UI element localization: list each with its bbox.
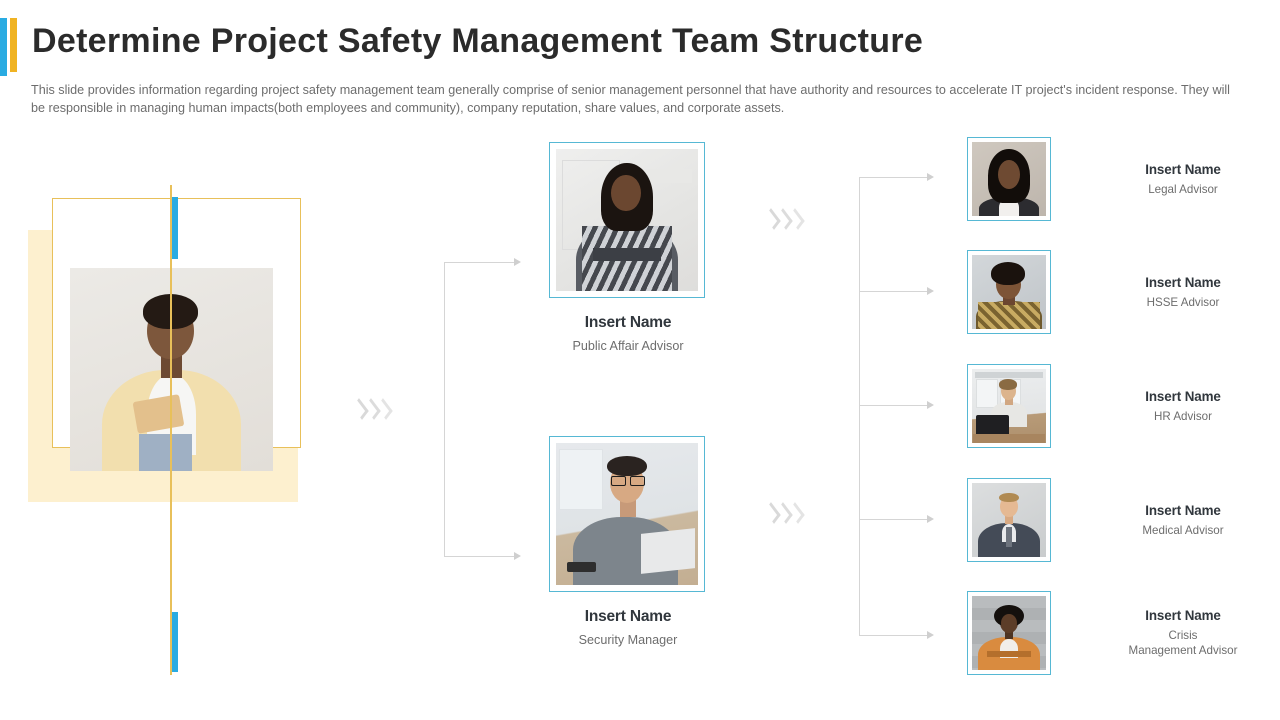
team-row-role: Crisis Management Advisor — [1113, 628, 1253, 658]
team-row-name: Insert Name — [1113, 608, 1253, 623]
team-card-security-manager[interactable]: Insert Name Security Manager — [549, 436, 707, 647]
team-row-photo-frame — [967, 137, 1051, 221]
bracket-connector-right — [859, 177, 943, 636]
team-row-name: Insert Name — [1113, 275, 1253, 290]
team-row-name: Insert Name — [1113, 162, 1253, 177]
team-card-role: Security Manager — [549, 633, 707, 647]
header-accent-bars — [0, 18, 22, 76]
team-row-role-line2: Management Advisor — [1113, 643, 1253, 658]
slide-header: Determine Project Safety Management Team… — [0, 0, 1280, 122]
team-row-crisis-management-advisor[interactable]: Insert Name Crisis Management Advisor — [967, 591, 1253, 675]
arrow-tip-icon — [927, 287, 934, 295]
team-row-hsse-advisor[interactable]: Insert Name HSSE Advisor — [967, 250, 1253, 334]
arrow-tip-icon — [927, 631, 934, 639]
team-card-photo-frame — [549, 142, 705, 298]
team-card-name: Insert Name — [549, 608, 707, 626]
team-row-photo — [972, 255, 1046, 329]
bracket-connector-middle — [444, 262, 524, 557]
arrow-tip-icon — [927, 401, 934, 409]
team-row-text: Insert Name HSSE Advisor — [1113, 275, 1253, 310]
team-row-photo-frame — [967, 478, 1051, 562]
team-row-text: Insert Name Crisis Management Advisor — [1113, 608, 1253, 658]
team-row-hr-advisor[interactable]: Insert Name HR Advisor — [967, 364, 1253, 448]
page-subtitle: This slide provides information regardin… — [31, 82, 1247, 117]
team-row-name: Insert Name — [1113, 389, 1253, 404]
arrow-tip-icon — [514, 258, 521, 266]
team-row-photo-frame — [967, 250, 1051, 334]
team-card-role: Public Affair Advisor — [549, 339, 707, 353]
chevron-security-manager-to-right — [767, 505, 802, 521]
team-row-role: Medical Advisor — [1113, 523, 1253, 538]
team-row-photo — [972, 142, 1046, 216]
team-row-text: Insert Name HR Advisor — [1113, 389, 1253, 424]
team-row-text: Insert Name Medical Advisor — [1113, 503, 1253, 538]
arrow-tip-icon — [927, 515, 934, 523]
hero-cyan-segment-bottom — [172, 612, 178, 672]
team-card-public-affair-advisor[interactable]: Insert Name Public Affair Advisor — [549, 142, 707, 353]
arrow-tip-icon — [927, 173, 934, 181]
team-row-role: HR Advisor — [1113, 409, 1253, 424]
accent-bar-yellow — [10, 18, 17, 72]
team-row-text: Insert Name Legal Advisor — [1113, 162, 1253, 197]
accent-bar-cyan — [0, 18, 7, 76]
team-row-photo-frame — [967, 591, 1051, 675]
hero-photo-block — [0, 130, 340, 690]
hero-cyan-segment-top — [172, 197, 178, 259]
chevron-hero-to-middle — [355, 401, 390, 417]
team-row-photo-frame — [967, 364, 1051, 448]
team-card-photo — [556, 149, 698, 291]
team-row-photo — [972, 596, 1046, 670]
chevron-public-affair-to-right — [767, 211, 802, 227]
team-row-photo — [972, 483, 1046, 557]
team-row-role: Legal Advisor — [1113, 182, 1253, 197]
team-row-medical-advisor[interactable]: Insert Name Medical Advisor — [967, 478, 1253, 562]
team-card-name: Insert Name — [549, 314, 707, 332]
team-row-photo — [972, 369, 1046, 443]
team-card-photo — [556, 443, 698, 585]
team-row-role-line1: Crisis — [1113, 628, 1253, 643]
arrow-tip-icon — [514, 552, 521, 560]
team-row-legal-advisor[interactable]: Insert Name Legal Advisor — [967, 137, 1253, 221]
team-row-role: HSSE Advisor — [1113, 295, 1253, 310]
team-card-photo-frame — [549, 436, 705, 592]
team-row-name: Insert Name — [1113, 503, 1253, 518]
page-title: Determine Project Safety Management Team… — [32, 22, 923, 61]
